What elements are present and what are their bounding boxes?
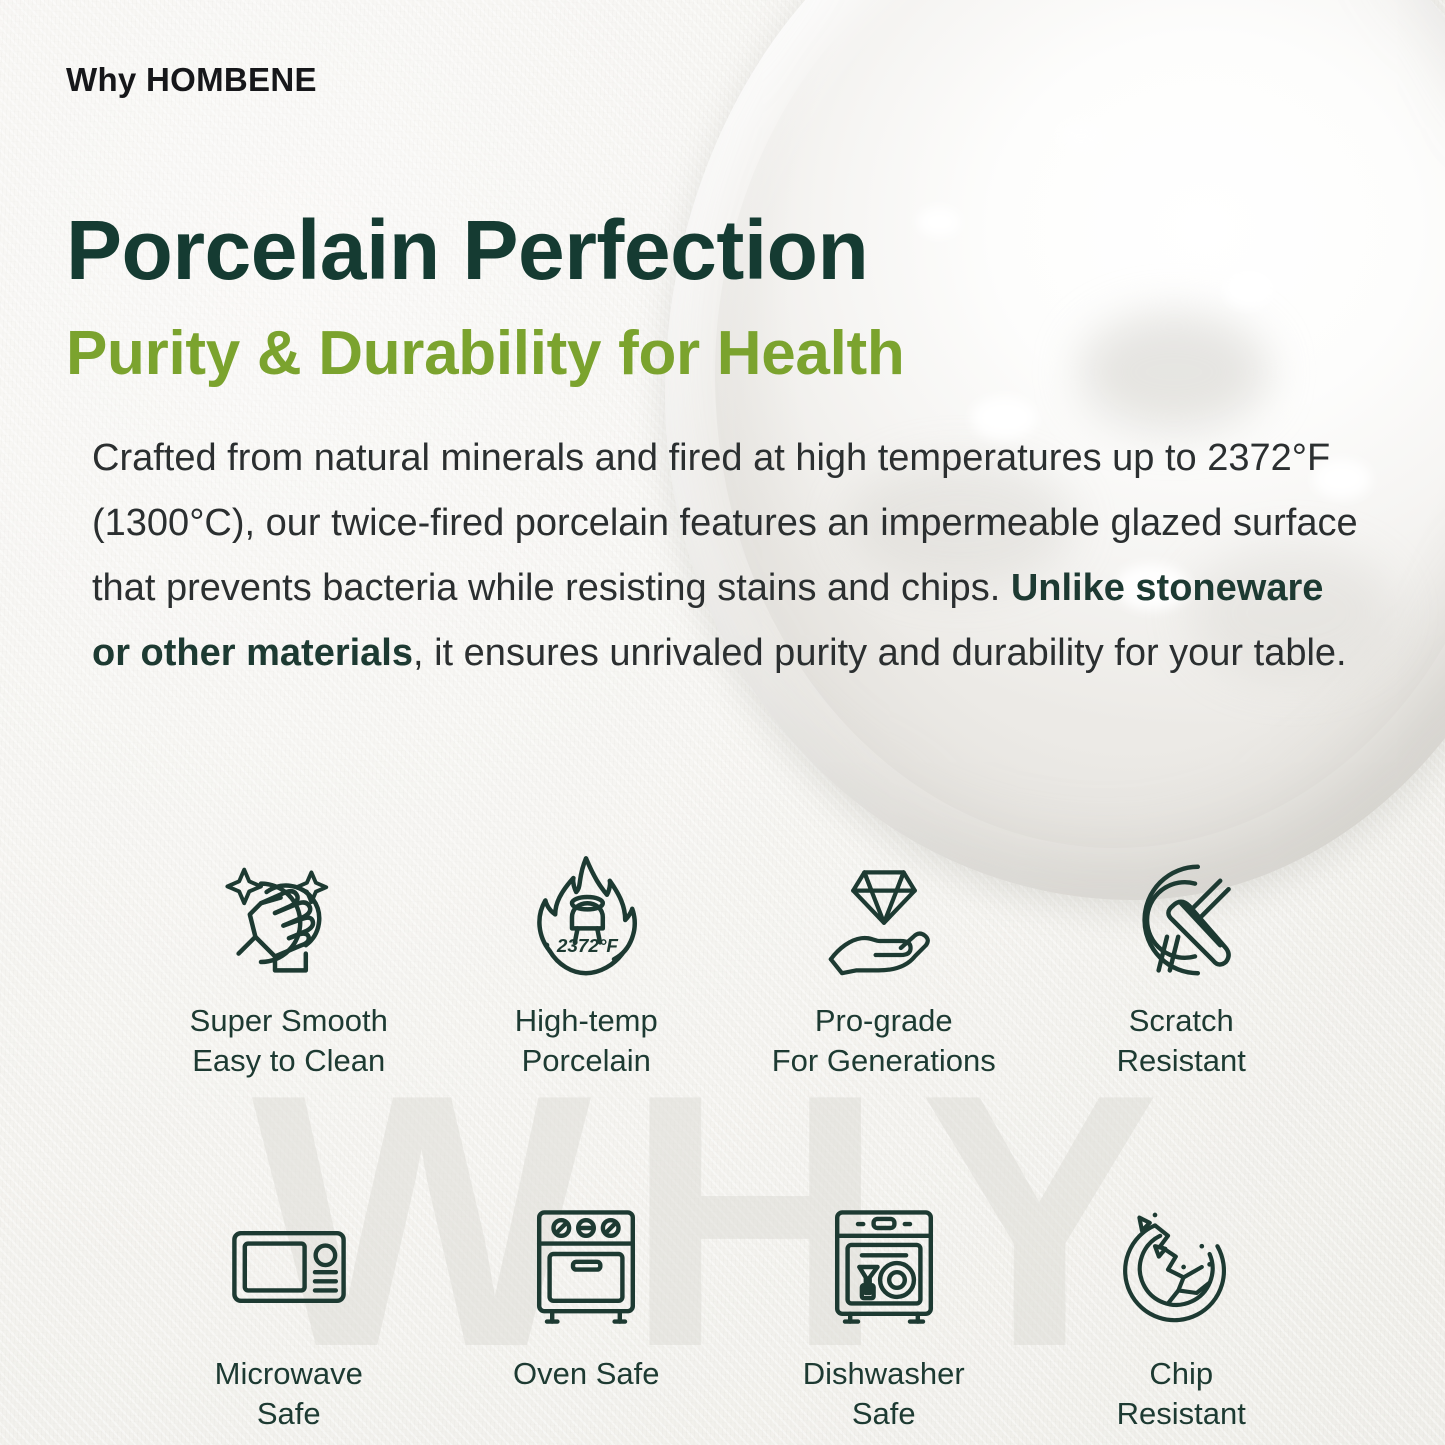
feature-row-2: Microwave Safe bbox=[140, 1192, 1330, 1433]
diamond-in-hand-icon bbox=[814, 845, 954, 995]
feature-row-1: Super Smooth Easy to Clean 2372°F bbox=[140, 845, 1330, 1080]
feature-label: Dishwasher Safe bbox=[803, 1354, 965, 1433]
microwave-icon bbox=[224, 1192, 354, 1342]
feature-label: Pro-grade For Generations bbox=[772, 1001, 996, 1080]
flame-kiln-temperature-icon: 2372°F bbox=[516, 845, 656, 995]
feature-grid: Super Smooth Easy to Clean 2372°F bbox=[140, 845, 1330, 1434]
feature-oven-safe: Oven Safe bbox=[438, 1192, 736, 1433]
infographic-canvas: WHY Why HOMBENE Porcelain Perfection Pur… bbox=[0, 0, 1445, 1445]
feature-label: Scratch Resistant bbox=[1117, 1001, 1246, 1080]
feature-scratch-resistant: Scratch Resistant bbox=[1033, 845, 1331, 1080]
feature-pro-grade: Pro-grade For Generations bbox=[735, 845, 1033, 1080]
feature-microwave-safe: Microwave Safe bbox=[140, 1192, 438, 1433]
sparkle-hand-wipe-plate-icon bbox=[219, 845, 359, 995]
page-title: Porcelain Perfection bbox=[66, 208, 868, 292]
feature-high-temp: 2372°F High-temp Porcelain bbox=[438, 845, 736, 1080]
feature-dishwasher-safe: Dishwasher Safe bbox=[735, 1192, 1033, 1433]
feature-label: Oven Safe bbox=[513, 1354, 659, 1394]
temperature-value: 2372°F bbox=[556, 936, 619, 957]
feature-label: High-temp Porcelain bbox=[515, 1001, 658, 1080]
page-subtitle: Purity & Durability for Health bbox=[66, 323, 904, 385]
feature-label: Chip Resistant bbox=[1117, 1354, 1246, 1433]
feature-chip-resistant: Chip Resistant bbox=[1033, 1192, 1331, 1433]
dishwasher-icon bbox=[819, 1192, 949, 1342]
knife-scratch-plate-icon bbox=[1111, 845, 1251, 995]
body-paragraph: Crafted from natural minerals and fired … bbox=[92, 426, 1362, 686]
oven-icon bbox=[521, 1192, 651, 1342]
chipped-plate-icon bbox=[1116, 1192, 1246, 1342]
feature-super-smooth: Super Smooth Easy to Clean bbox=[140, 845, 438, 1080]
eyebrow-label: Why HOMBENE bbox=[66, 61, 317, 99]
feature-label: Microwave Safe bbox=[215, 1354, 363, 1433]
body-part-2: , it ensures unrivaled purity and durabi… bbox=[413, 632, 1347, 674]
feature-label: Super Smooth Easy to Clean bbox=[190, 1001, 388, 1080]
